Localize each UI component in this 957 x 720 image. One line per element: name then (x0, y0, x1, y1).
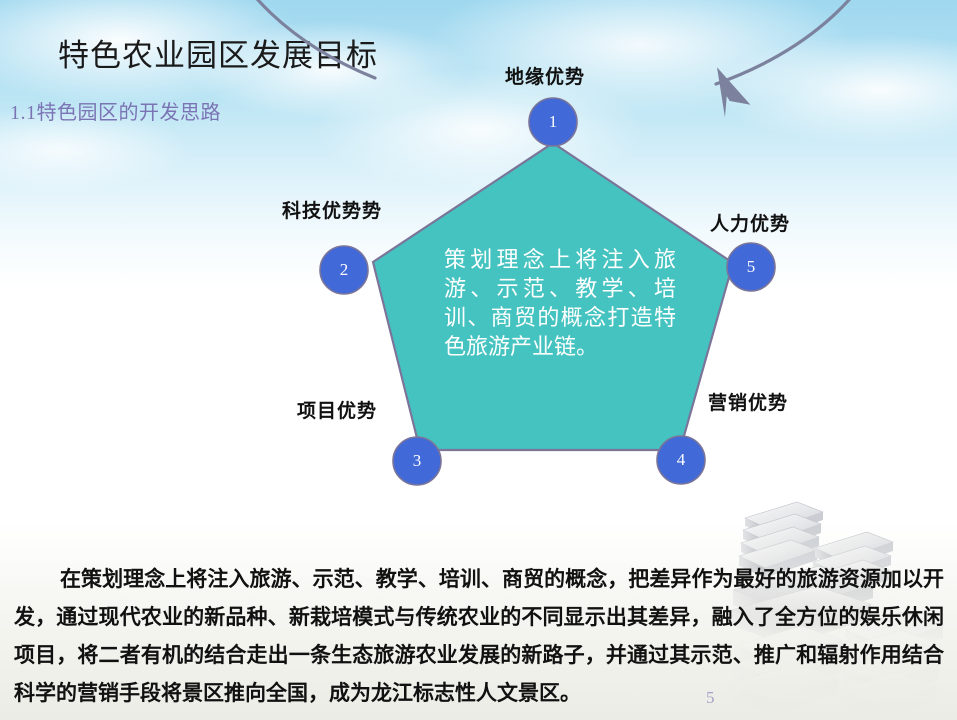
page-number: 5 (706, 688, 715, 708)
node-label-5-manpower-advantage: 人力优势 (710, 209, 790, 236)
node-number-1: 1 (529, 112, 577, 132)
node-number-4: 4 (657, 450, 705, 470)
node-label-3-project-advantage: 项目优势 (297, 396, 377, 423)
node-label-4-marketing-advantage: 营销优势 (708, 388, 788, 415)
pentagon-center-text: 策划理念上将注入旅游、示范、教学、培训、商贸的概念打造特色旅游产业链。 (444, 245, 676, 361)
body-paragraph: 在策划理念上将注入旅游、示范、教学、培训、商贸的概念，把差异作为最好的旅游资源加… (14, 560, 944, 712)
node-label-2-technology-advantage: 科技优势势 (282, 196, 382, 223)
node-number-3: 3 (393, 451, 441, 471)
node-number-2: 2 (320, 260, 368, 280)
node-label-1-digital-advantage: 地缘优势 (505, 62, 585, 89)
node-number-5: 5 (727, 257, 775, 277)
slide-canvas: 特色农业园区发展目标 1.1特色园区的开发思路 1 2 3 4 5 策划理念上将… (0, 0, 957, 720)
